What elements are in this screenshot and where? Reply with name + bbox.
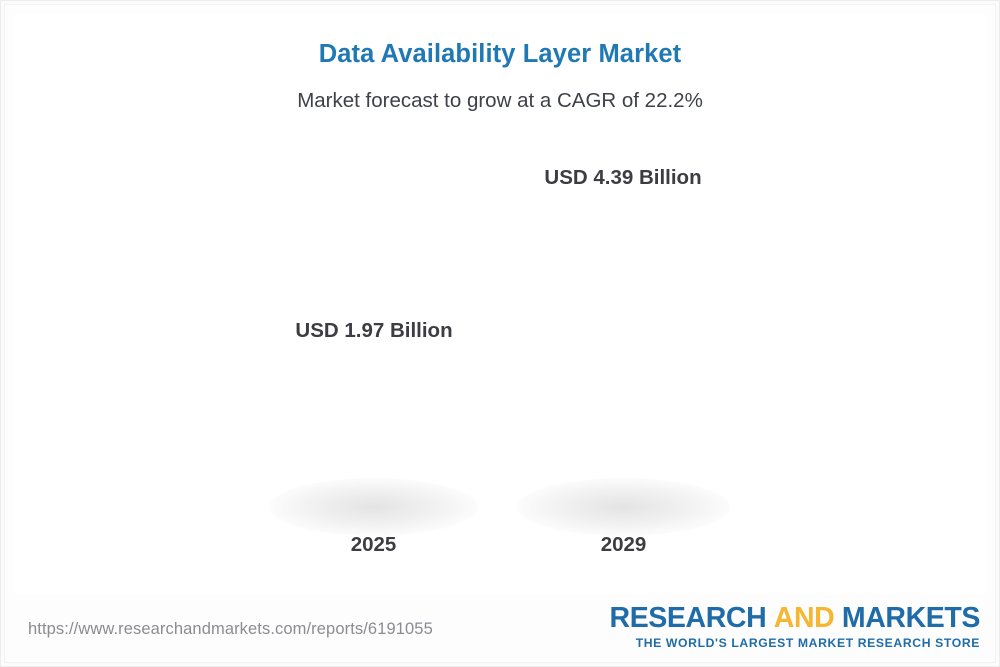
brand-tagline: THE WORLD'S LARGEST MARKET RESEARCH STOR… bbox=[610, 636, 980, 650]
category-label-2029: 2029 bbox=[543, 533, 704, 557]
category-label-2025: 2025 bbox=[293, 533, 454, 557]
value-label-2029: USD 4.39 Billion bbox=[522, 166, 724, 190]
bar-cylinder-2029[interactable] bbox=[535, 205, 712, 529]
brand-wordmark: RESEARCH AND MARKETS bbox=[610, 604, 980, 634]
value-label-2025: USD 1.97 Billion bbox=[273, 319, 475, 343]
chart-title: Data Availability Layer Market bbox=[0, 40, 1000, 69]
brand-logo[interactable]: RESEARCH AND MARKETS THE WORLD'S LARGEST… bbox=[610, 604, 980, 650]
brand-space-1 bbox=[766, 602, 774, 634]
brand-word-and: AND bbox=[774, 602, 835, 634]
source-url[interactable]: https://www.researchandmarkets.com/repor… bbox=[28, 620, 433, 639]
bar-cylinder-2025[interactable] bbox=[287, 358, 460, 529]
chart-subtitle: Market forecast to grow at a CAGR of 22.… bbox=[0, 89, 1000, 114]
brand-word-markets: MARKETS bbox=[842, 602, 980, 634]
figure-footer: https://www.researchandmarkets.com/repor… bbox=[0, 596, 1000, 667]
brand-word-research: RESEARCH bbox=[610, 602, 767, 634]
bar-shadow-2029 bbox=[517, 478, 730, 536]
bar-shadow-2025 bbox=[269, 478, 478, 536]
brand-space-2 bbox=[834, 602, 842, 634]
chart-figure: Data Availability Layer Market Market fo… bbox=[0, 0, 1000, 667]
